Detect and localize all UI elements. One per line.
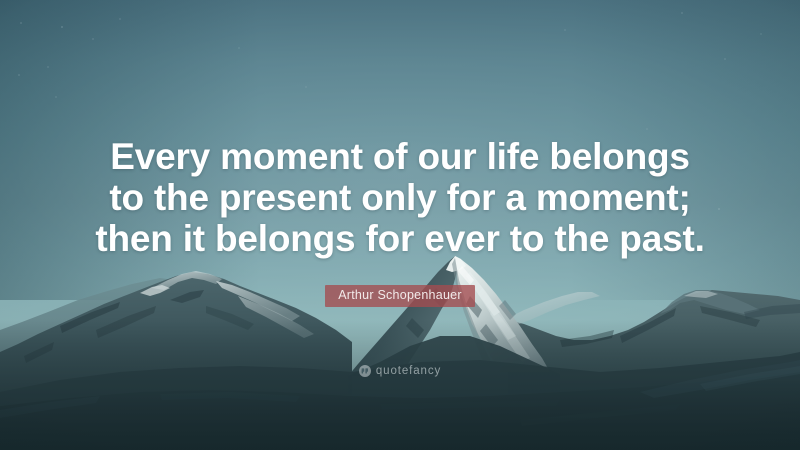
watermark-brand: quotefancy: [376, 365, 441, 377]
watermark: quotefancy: [0, 365, 800, 377]
quote-line-1: Every moment of our life belongs: [0, 136, 800, 177]
quote-text-block: Every moment of our life belongs to the …: [0, 136, 800, 259]
quote-line-3: then it belongs for ever to the past.: [0, 218, 800, 259]
quote-mark-icon: [359, 365, 371, 377]
author-attribution: Arthur Schopenhauer: [0, 285, 800, 307]
author-name-badge: Arthur Schopenhauer: [325, 285, 475, 307]
quote-line-2: to the present only for a moment;: [0, 177, 800, 218]
quote-poster-image: Every moment of our life belongs to the …: [0, 0, 800, 450]
